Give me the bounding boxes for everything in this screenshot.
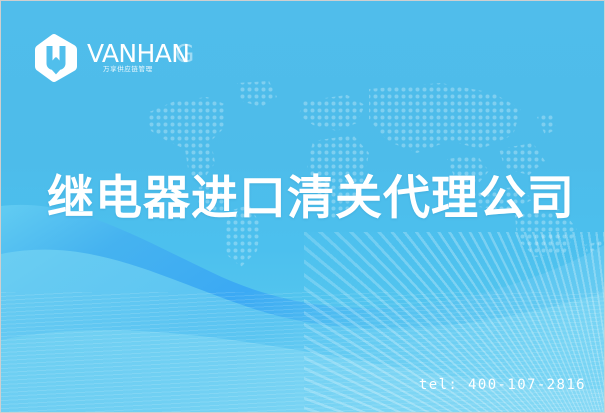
svg-text:G: G: [175, 40, 194, 68]
promo-banner: VANHAN G 万享供应链管理 继电器进口清关代理公司 tel: 400-10…: [0, 0, 605, 413]
hexagon-u-mark: [33, 33, 79, 83]
brand-logo[interactable]: VANHAN G 万享供应链管理: [33, 32, 199, 84]
brand-wordmark-block: VANHAN G 万享供应链管理: [87, 38, 199, 78]
contact-phone: tel: 400-107-2816: [419, 377, 586, 393]
page-title: 继电器进口清关代理公司: [47, 171, 575, 227]
brand-subtitle: 万享供应链管理: [103, 63, 153, 73]
